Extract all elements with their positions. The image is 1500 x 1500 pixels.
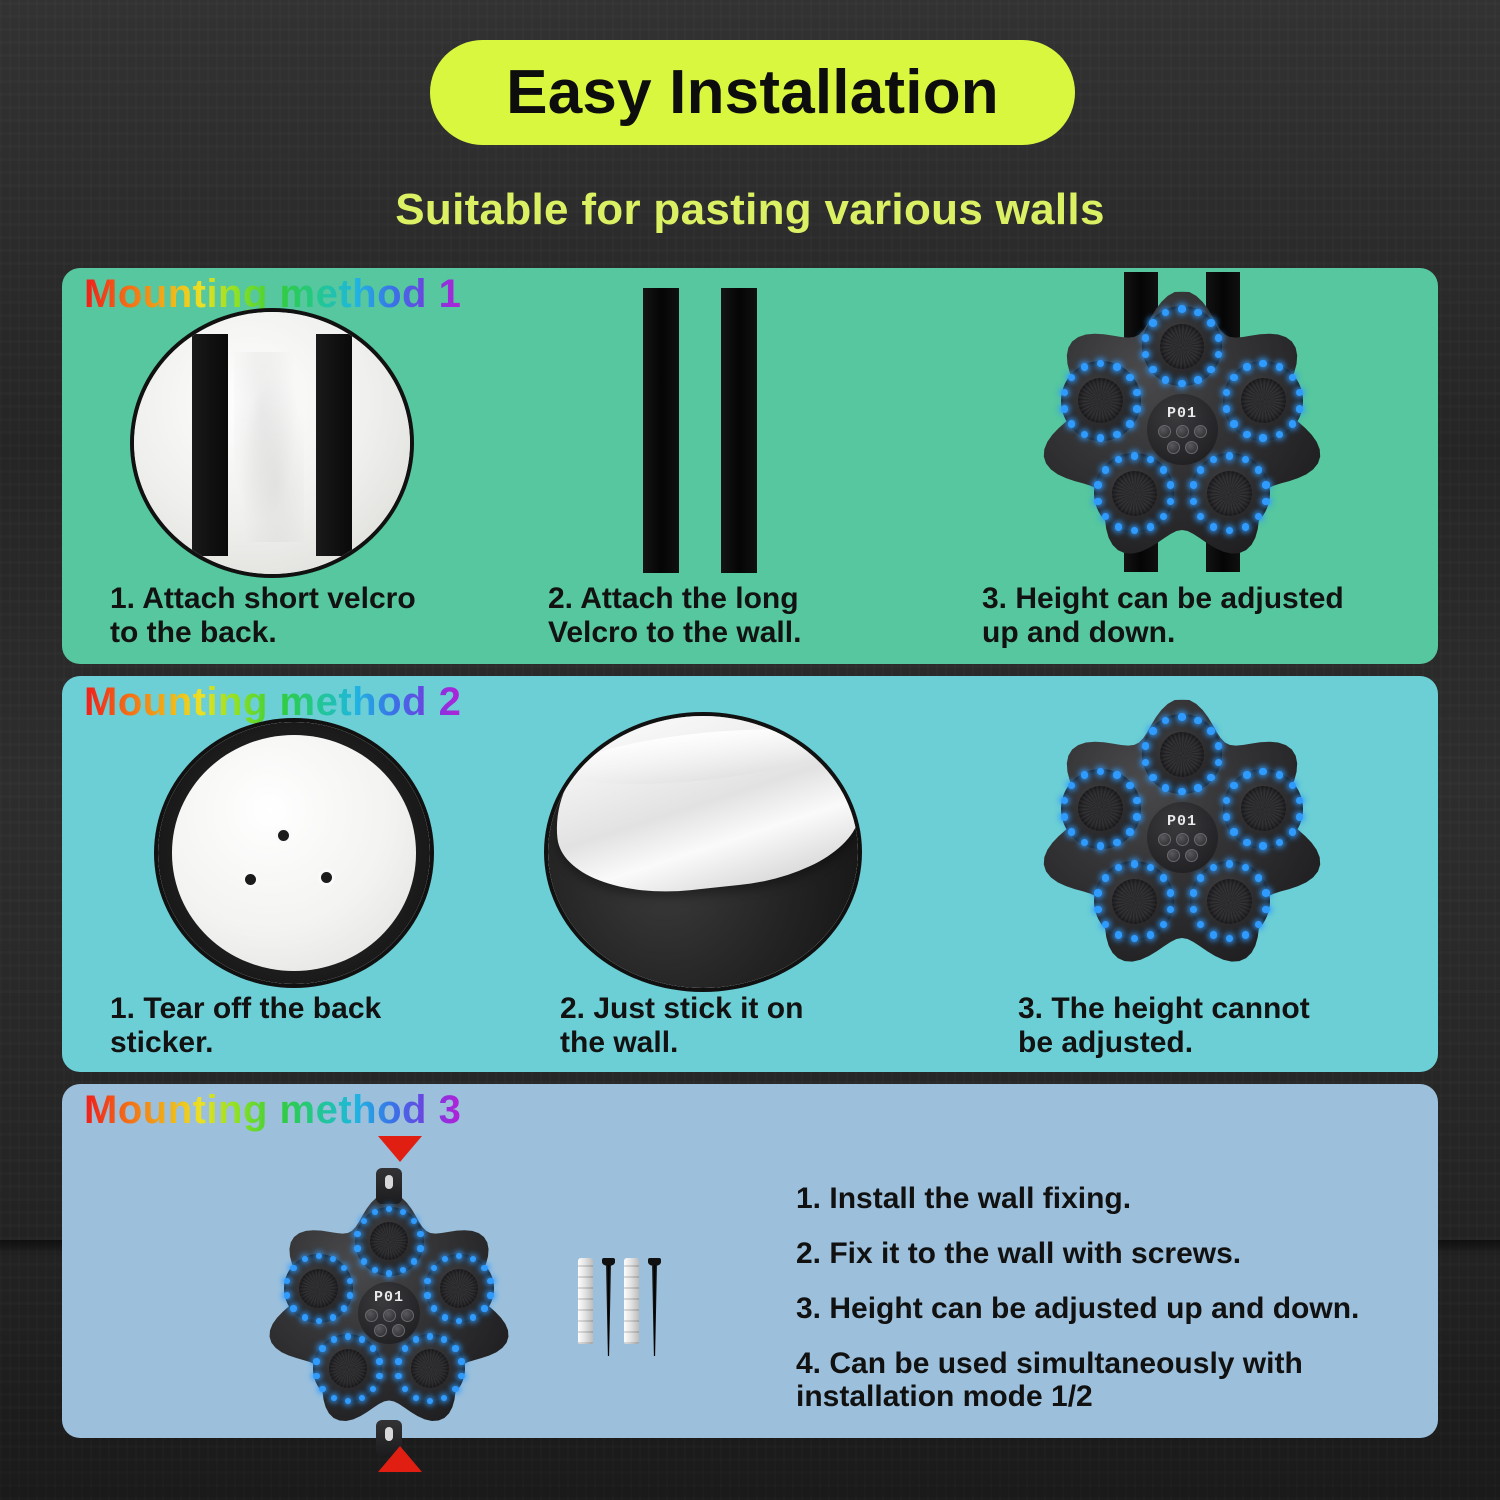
led-ring — [1060, 360, 1142, 442]
screw — [602, 1258, 615, 1356]
method-2-step-2-caption: 2. Just stick it on the wall. — [560, 992, 803, 1059]
wall-anchor — [578, 1258, 593, 1344]
short-velcro-strip — [192, 334, 228, 556]
control-hub[interactable]: P01 — [1147, 802, 1218, 873]
instruction-item: 2. Fix it to the wall with screws. — [796, 1237, 1426, 1270]
mode-button[interactable] — [1158, 425, 1171, 438]
mounting-hardware-photo — [578, 1258, 686, 1370]
program-display: P01 — [374, 1289, 404, 1306]
long-velcro-strip — [721, 288, 757, 573]
target-pad-4 — [313, 1334, 382, 1403]
target-pad-4 — [1094, 861, 1174, 941]
boxing-machine-device: P01 — [1042, 700, 1322, 972]
play-button[interactable] — [1167, 849, 1180, 862]
target-pad-1 — [1142, 714, 1222, 794]
wall-anchor — [624, 1258, 639, 1344]
instruction-item: 3. Height can be adjusted up and down. — [796, 1292, 1426, 1325]
mode-button[interactable] — [1158, 833, 1171, 846]
boxing-machine-device: P01 — [1042, 292, 1322, 564]
target-pad-3 — [425, 1254, 494, 1323]
minus-button[interactable] — [1176, 833, 1189, 846]
plus-button[interactable] — [1185, 849, 1198, 862]
mounting-method-1-label: Mounting method 1 — [84, 272, 461, 317]
power-button[interactable] — [1194, 833, 1207, 846]
bottom-mount-arrow-icon — [378, 1446, 422, 1472]
play-button[interactable] — [374, 1324, 387, 1337]
long-velcro-strip — [643, 288, 679, 573]
top-mount-arrow-icon — [378, 1136, 422, 1162]
play-button[interactable] — [1167, 441, 1180, 454]
led-ring — [1222, 768, 1304, 850]
method-3-instruction-list: 1. Install the wall fixing. 2. Fix it to… — [796, 1182, 1426, 1435]
method-1-step-3-caption: 3. Height can be adjusted up and down. — [982, 582, 1344, 649]
mode-button[interactable] — [365, 1309, 378, 1322]
power-button[interactable] — [401, 1309, 414, 1322]
target-pad-3 — [1223, 769, 1303, 849]
target-pad-1 — [355, 1207, 424, 1276]
led-ring — [283, 1253, 354, 1324]
page-subtitle: Suitable for pasting various walls — [0, 185, 1500, 235]
control-hub[interactable]: P01 — [1147, 394, 1218, 465]
led-ring — [1222, 360, 1304, 442]
mounting-method-3-label: Mounting method 3 — [84, 1088, 461, 1133]
program-display: P01 — [1167, 813, 1197, 830]
led-ring — [424, 1253, 495, 1324]
led-ring — [312, 1333, 383, 1404]
page-title: Easy Installation — [506, 62, 999, 124]
method-1-step-2-caption: 2. Attach the long Velcro to the wall. — [548, 582, 801, 649]
mounting-tab-top — [376, 1168, 402, 1204]
method-2-step-3-caption: 3. The height cannot be adjusted. — [1018, 992, 1310, 1059]
method-1-step-1-caption: 1. Attach short velcro to the back. — [110, 582, 416, 649]
boxing-machine-device: P01 — [268, 1194, 510, 1430]
minus-button[interactable] — [383, 1309, 396, 1322]
led-ring — [1141, 713, 1223, 795]
velcro-backplate-photo — [134, 312, 410, 574]
control-hub[interactable]: P01 — [358, 1282, 420, 1344]
minus-button[interactable] — [1176, 425, 1189, 438]
target-pad-5 — [1190, 453, 1270, 533]
led-ring — [1141, 305, 1223, 387]
target-pad-3 — [1223, 361, 1303, 441]
method-2-step-1-caption: 1. Tear off the back sticker. — [110, 992, 381, 1059]
plus-button[interactable] — [392, 1324, 405, 1337]
peeling-sticker-photo — [548, 716, 858, 988]
back-sticker-photo — [158, 722, 430, 984]
target-pad-2 — [1061, 769, 1141, 849]
target-pad-5 — [396, 1334, 465, 1403]
led-ring — [395, 1333, 466, 1404]
short-velcro-strip — [316, 334, 352, 556]
target-pad-5 — [1190, 861, 1270, 941]
led-ring — [1060, 768, 1142, 850]
led-ring — [1189, 860, 1271, 942]
led-ring — [354, 1206, 425, 1277]
instruction-item: 4. Can be used simultaneously with insta… — [796, 1347, 1426, 1413]
plus-button[interactable] — [1185, 441, 1198, 454]
power-button[interactable] — [1194, 425, 1207, 438]
target-pad-2 — [1061, 361, 1141, 441]
mounting-method-2-label: Mounting method 2 — [84, 680, 461, 725]
target-pad-2 — [284, 1254, 353, 1323]
instruction-item: 1. Install the wall fixing. — [796, 1182, 1426, 1215]
screw — [648, 1258, 661, 1356]
screw-hole — [275, 827, 292, 844]
target-pad-4 — [1094, 453, 1174, 533]
program-display: P01 — [1167, 405, 1197, 422]
target-pad-1 — [1142, 306, 1222, 386]
led-ring — [1189, 452, 1271, 534]
page-title-pill: Easy Installation — [430, 40, 1075, 145]
